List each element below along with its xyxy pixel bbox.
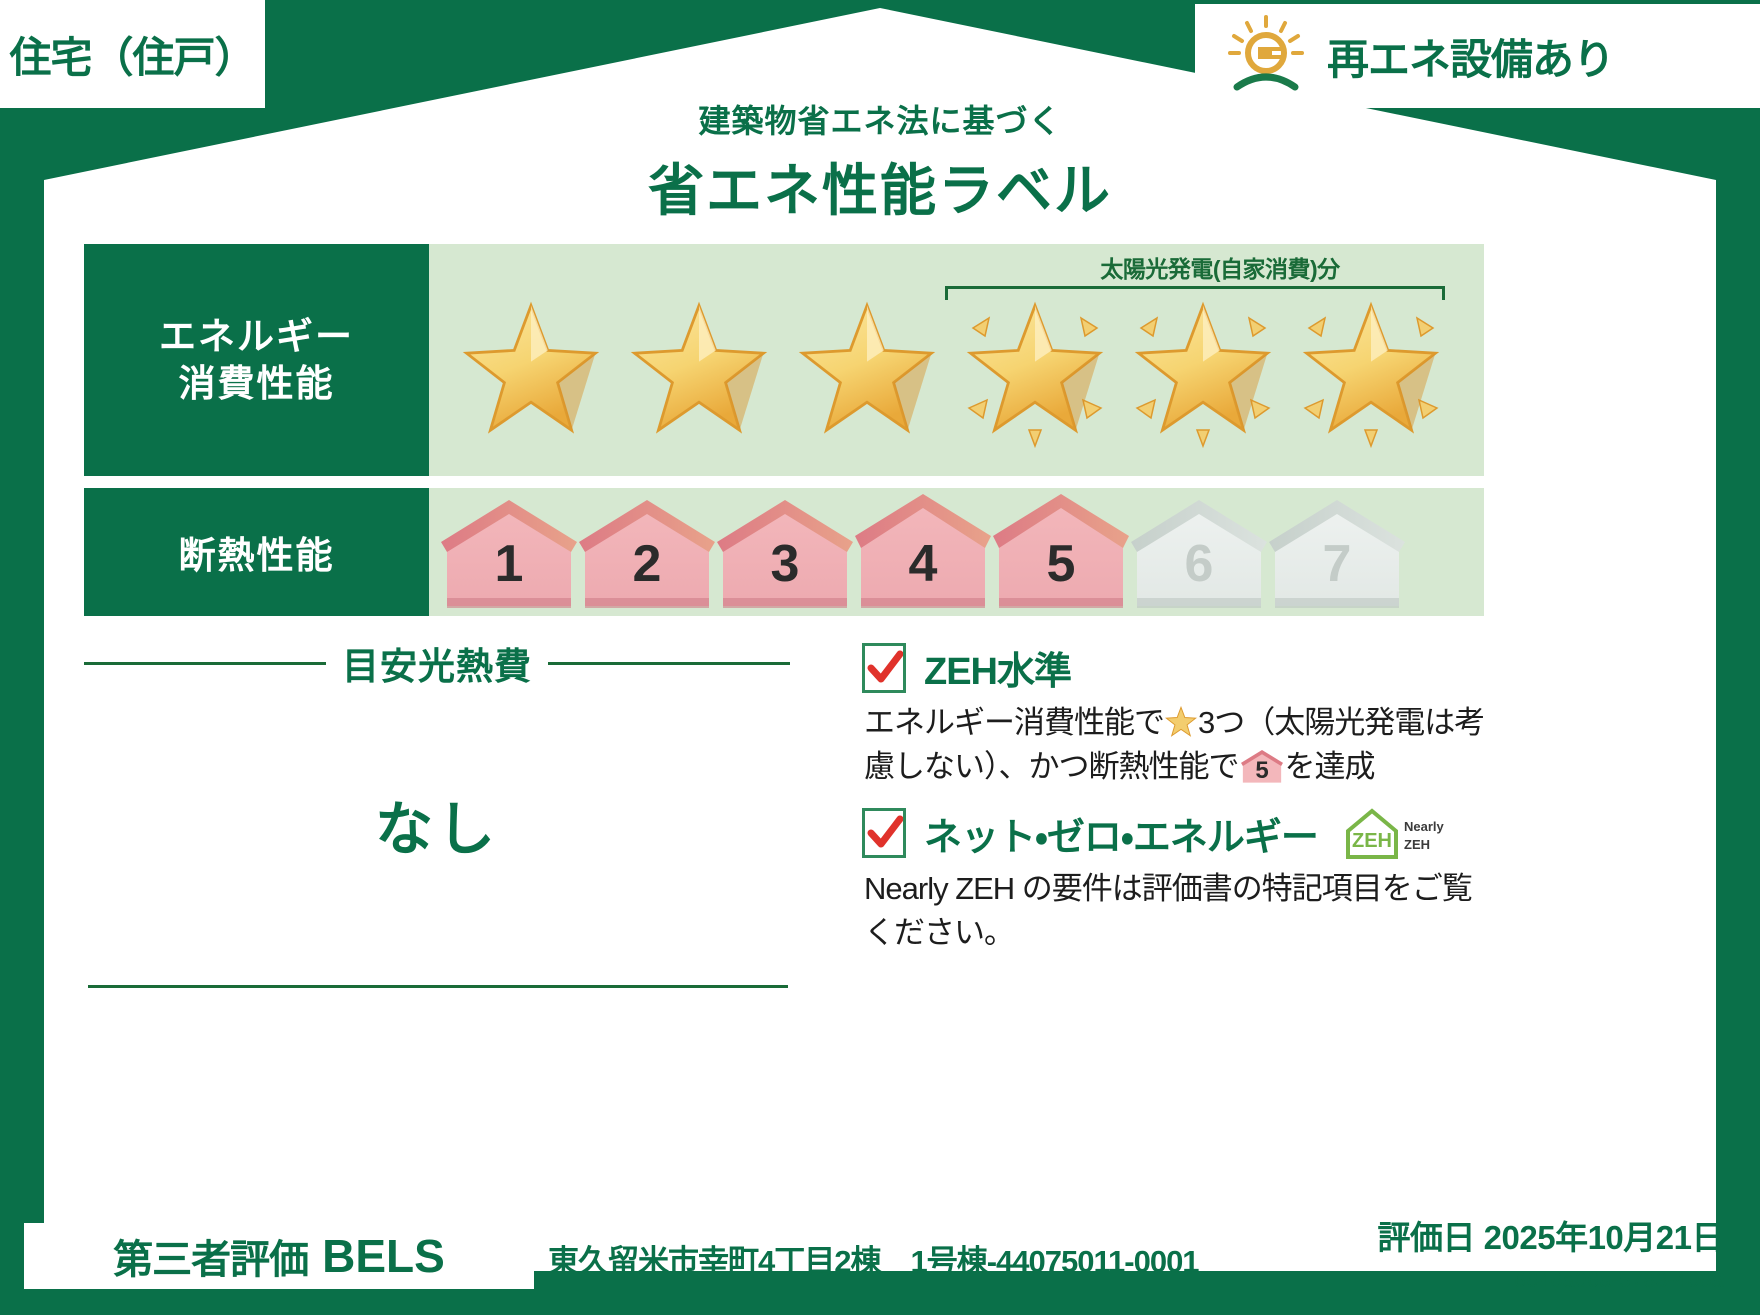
net-zero-energy-description: Nearly ZEH の要件は評価書の特記項目をご覧ください。 [864, 867, 1492, 955]
insulation-level-item: 4 [855, 494, 991, 610]
insulation-performance-value: 1 2 3 [429, 488, 1484, 616]
net-zero-energy-row: ネット・ゼロ・エネルギー ZEH Nearly ZEH [862, 805, 1492, 861]
solar-self-consumption-note: 太陽光発電(自家消費)分 [960, 250, 1480, 284]
bels-wordmark: BELS [322, 1229, 445, 1283]
svg-text:ZEH: ZEH [1404, 837, 1430, 852]
energy-performance-row: エネルギー 消費性能 太陽光発電(自家消費)分 [84, 244, 1484, 476]
zeh-desc-part-a: エネルギー消費性能で [864, 705, 1164, 740]
insulation-level-number: 1 [441, 538, 577, 590]
insulation-level-item: 7 [1269, 494, 1405, 610]
insulation-performance-key: 断熱性能 [84, 488, 429, 616]
star-slot [619, 288, 779, 453]
checkmark-icon [867, 649, 903, 687]
energy-star-rating [451, 288, 1451, 453]
checkmark-icon [867, 814, 903, 852]
star-slot-solar [1291, 288, 1451, 453]
star-icon [461, 300, 601, 440]
star-icon [797, 300, 937, 440]
insulation-level-number: 2 [579, 538, 715, 590]
zeh-criteria-block: ZEH水準 エネルギー消費性能で3つ（太陽光発電は考慮しない）、かつ断熱性能で5… [862, 640, 1492, 971]
energy-performance-value: 太陽光発電(自家消費)分 [429, 244, 1484, 476]
insulation-level-number: 6 [1131, 538, 1267, 590]
dwelling-type-badge: 住宅（住戸） [0, 0, 265, 108]
nearly-zeh-logo: ZEH Nearly ZEH [1342, 805, 1492, 861]
utility-cost-value: なし [84, 782, 790, 866]
insulation-level-item: 5 [993, 494, 1129, 610]
star-icon [1301, 300, 1441, 440]
insulation-level-number: 7 [1269, 538, 1405, 590]
sun-plug-icon [1223, 13, 1309, 99]
inline-house-number: 5 [1241, 754, 1283, 788]
svg-text:Nearly: Nearly [1404, 819, 1445, 834]
rule-right [548, 662, 790, 665]
inline-star-icon [1165, 706, 1197, 738]
bels-energy-label: 住宅（住戸） 再エネ設備あり [0, 0, 1760, 1315]
insulation-performance-row: 断熱性能 [84, 488, 1484, 616]
energy-key-line1: エネルギー [159, 313, 354, 360]
star-slot [451, 288, 611, 453]
net-zero-energy-label: ネット・ゼロ・エネルギー [924, 806, 1318, 861]
insulation-level-item: 2 [579, 494, 715, 610]
star-icon [1133, 300, 1273, 440]
zeh-standard-row: ZEH水準 [862, 640, 1492, 695]
star-icon [629, 300, 769, 440]
zeh-desc-part-d: を達成 [1285, 749, 1375, 784]
zeh-desc-part-b: 3つ（太陽光発電 [1198, 705, 1424, 740]
insulation-level-item: 1 [441, 494, 577, 610]
renewable-equipment-label: 再エネ設備あり [1327, 26, 1614, 87]
svg-text:ZEH: ZEH [1352, 830, 1392, 852]
zeh-standard-label: ZEH水準 [924, 640, 1071, 695]
star-slot-solar [1123, 288, 1283, 453]
building-address: 東久留米市幸町4丁目2棟 1号棟-44075011-0001 [548, 1236, 1199, 1281]
insulation-level-number: 3 [717, 538, 853, 590]
inline-house-badge: 5 [1241, 748, 1283, 784]
rule-left [84, 662, 326, 665]
zeh-standard-checkbox[interactable] [862, 643, 906, 693]
insulation-level-item: 3 [717, 494, 853, 610]
utility-cost-title: 目安光熱費 [342, 636, 532, 690]
energy-key-line2: 消費性能 [179, 360, 335, 407]
zeh-standard-description: エネルギー消費性能で3つ（太陽光発電は考慮しない）、かつ断熱性能で5を達成 [864, 701, 1492, 789]
utility-cost-block: 目安光熱費 なし [84, 636, 790, 988]
renewable-equipment-badge: 再エネ設備あり [1195, 4, 1760, 108]
evaluation-date: 評価日 2025年10月21日 [1378, 1211, 1725, 1259]
dwelling-type-label: 住宅（住戸） [9, 24, 255, 85]
insulation-level-item: 6 [1131, 494, 1267, 610]
label-footer: 第三者評価 BELS 東久留米市幸町4丁目2棟 1号棟-44075011-000… [0, 1197, 1760, 1315]
bels-certification-badge: 第三者評価 BELS [24, 1223, 534, 1289]
third-party-eval-label: 第三者評価 [113, 1227, 308, 1285]
insulation-level-scale: 1 2 3 [441, 494, 1405, 610]
utility-cost-header: 目安光熱費 [84, 636, 790, 690]
net-zero-energy-checkbox[interactable] [862, 808, 906, 858]
certificate-id: 6646a06a-5783-406a [1514, 1269, 1724, 1293]
star-slot-solar [955, 288, 1115, 453]
star-slot [787, 288, 947, 453]
star-icon [965, 300, 1105, 440]
insulation-level-number: 4 [855, 538, 991, 590]
energy-performance-key: エネルギー 消費性能 [84, 244, 429, 476]
insulation-level-number: 5 [993, 538, 1129, 590]
utility-cost-bottom-rule [88, 985, 788, 988]
